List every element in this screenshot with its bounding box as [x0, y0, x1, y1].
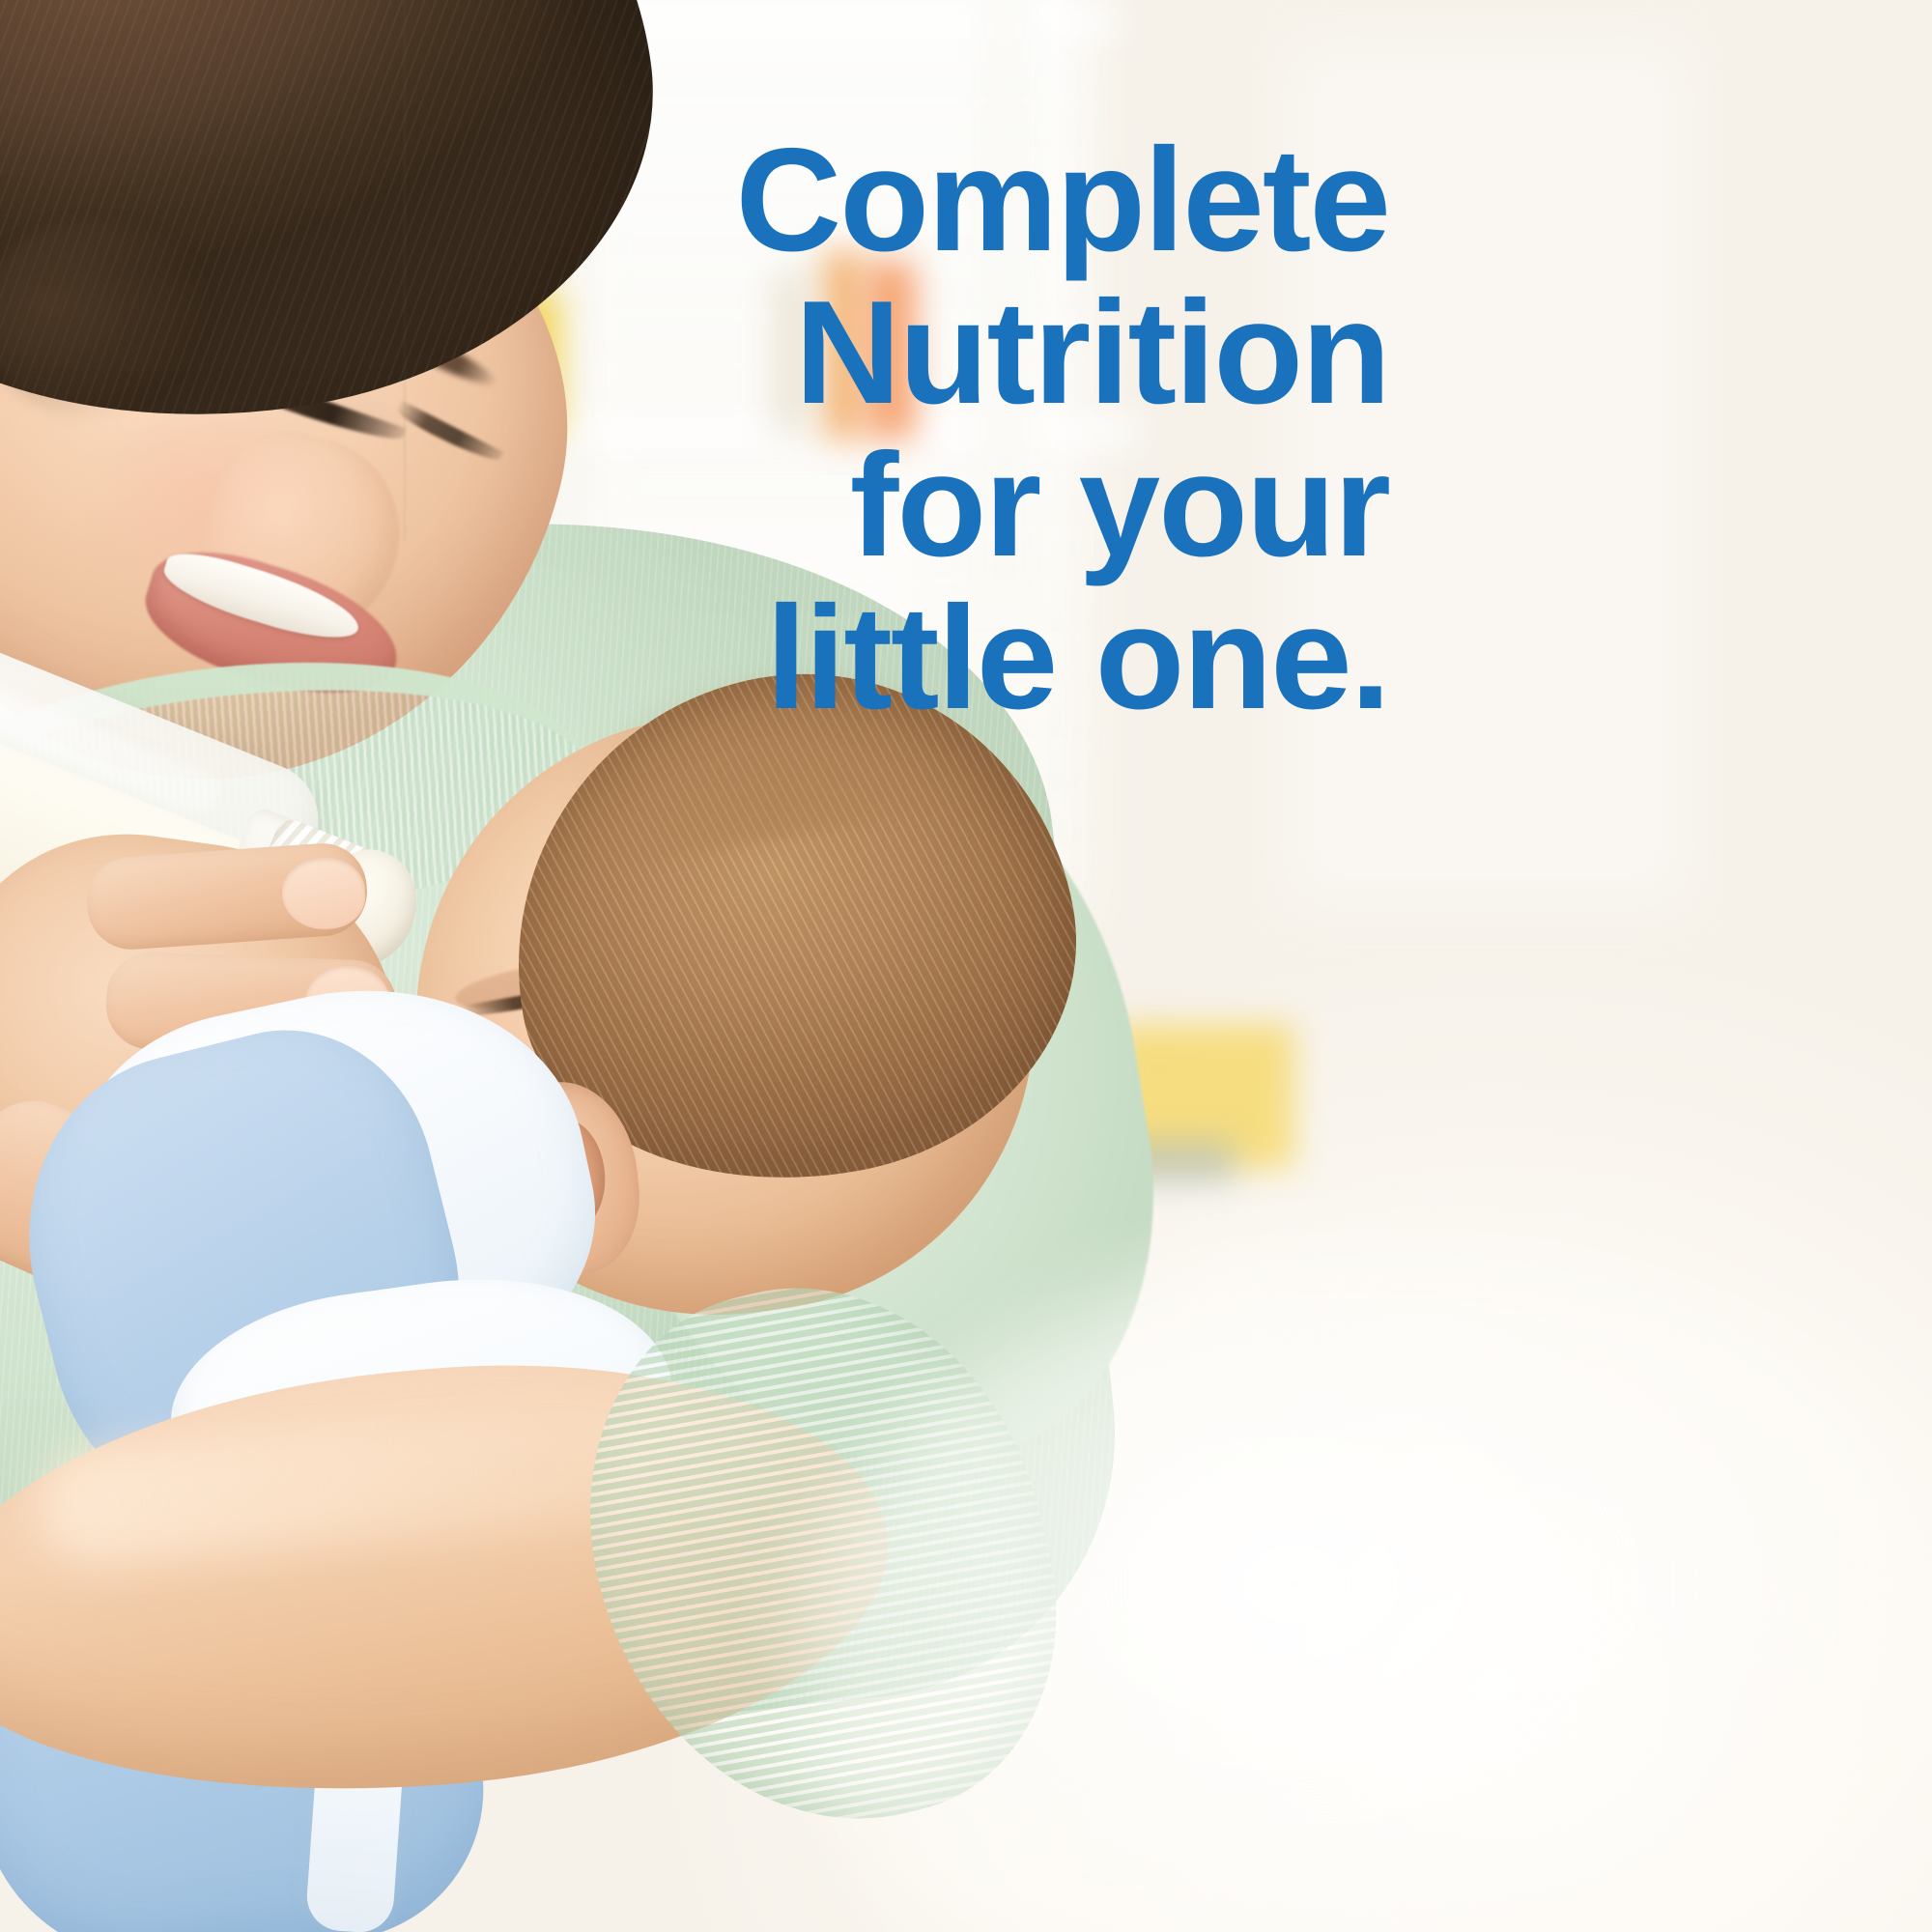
headline-line-4: little one. — [464, 582, 1389, 734]
headline-block: Complete Nutrition for your little one. — [464, 124, 1389, 734]
image-seam — [404, 0, 406, 541]
headline-line-1: Complete — [464, 124, 1389, 276]
advertisement-canvas: Complete Nutrition for your little one. — [0, 0, 1932, 1932]
headline-line-2: Nutrition — [464, 276, 1389, 429]
mother-hair-wisp — [0, 222, 213, 425]
headline-line-3: for your — [464, 429, 1389, 582]
